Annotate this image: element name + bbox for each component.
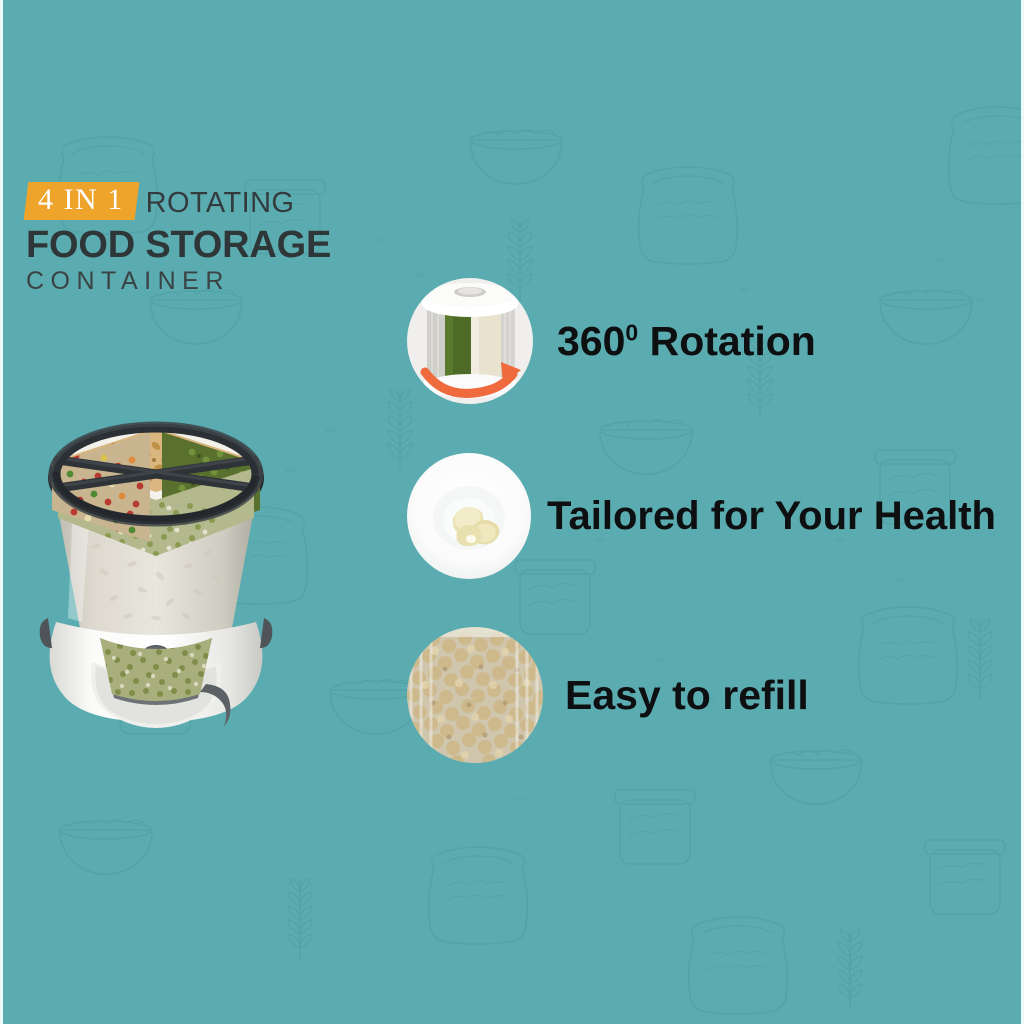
- product-marketing-image: 4 IN 1 ROTATING FOOD STORAGE CONTAINER: [0, 0, 1024, 1024]
- headline-block: 4 IN 1 ROTATING FOOD STORAGE CONTAINER: [26, 182, 446, 296]
- headline-food-storage: FOOD STORAGE: [26, 224, 446, 267]
- badge-label: 4 IN 1: [38, 185, 124, 216]
- left-edge-strip: [0, 0, 3, 1024]
- feature-rotation-word: Rotation: [638, 318, 816, 364]
- feature-rotation-superscript: 0: [625, 319, 638, 345]
- rotating-container-photo: [405, 276, 535, 406]
- garlic-cloves-photo: [405, 452, 533, 580]
- feature-rotation-number: 360: [557, 318, 625, 364]
- feature-rotation: 3600 Rotation: [405, 276, 816, 406]
- feature-health-label: Tailored for Your Health: [547, 496, 996, 536]
- badge-4-in-1: 4 IN 1: [24, 182, 139, 220]
- headline-row-top: 4 IN 1 ROTATING: [26, 182, 446, 220]
- product-photo: [0, 360, 316, 780]
- chickpeas-photo: [405, 625, 545, 765]
- headline-container: CONTAINER: [26, 267, 446, 296]
- headline-word-rotating: ROTATING: [146, 189, 295, 220]
- feature-refill-label: Easy to refill: [565, 675, 809, 716]
- feature-refill: Easy to refill: [405, 625, 809, 765]
- feature-rotation-label: 3600 Rotation: [557, 321, 816, 362]
- feature-health: Tailored for Your Health: [405, 452, 996, 580]
